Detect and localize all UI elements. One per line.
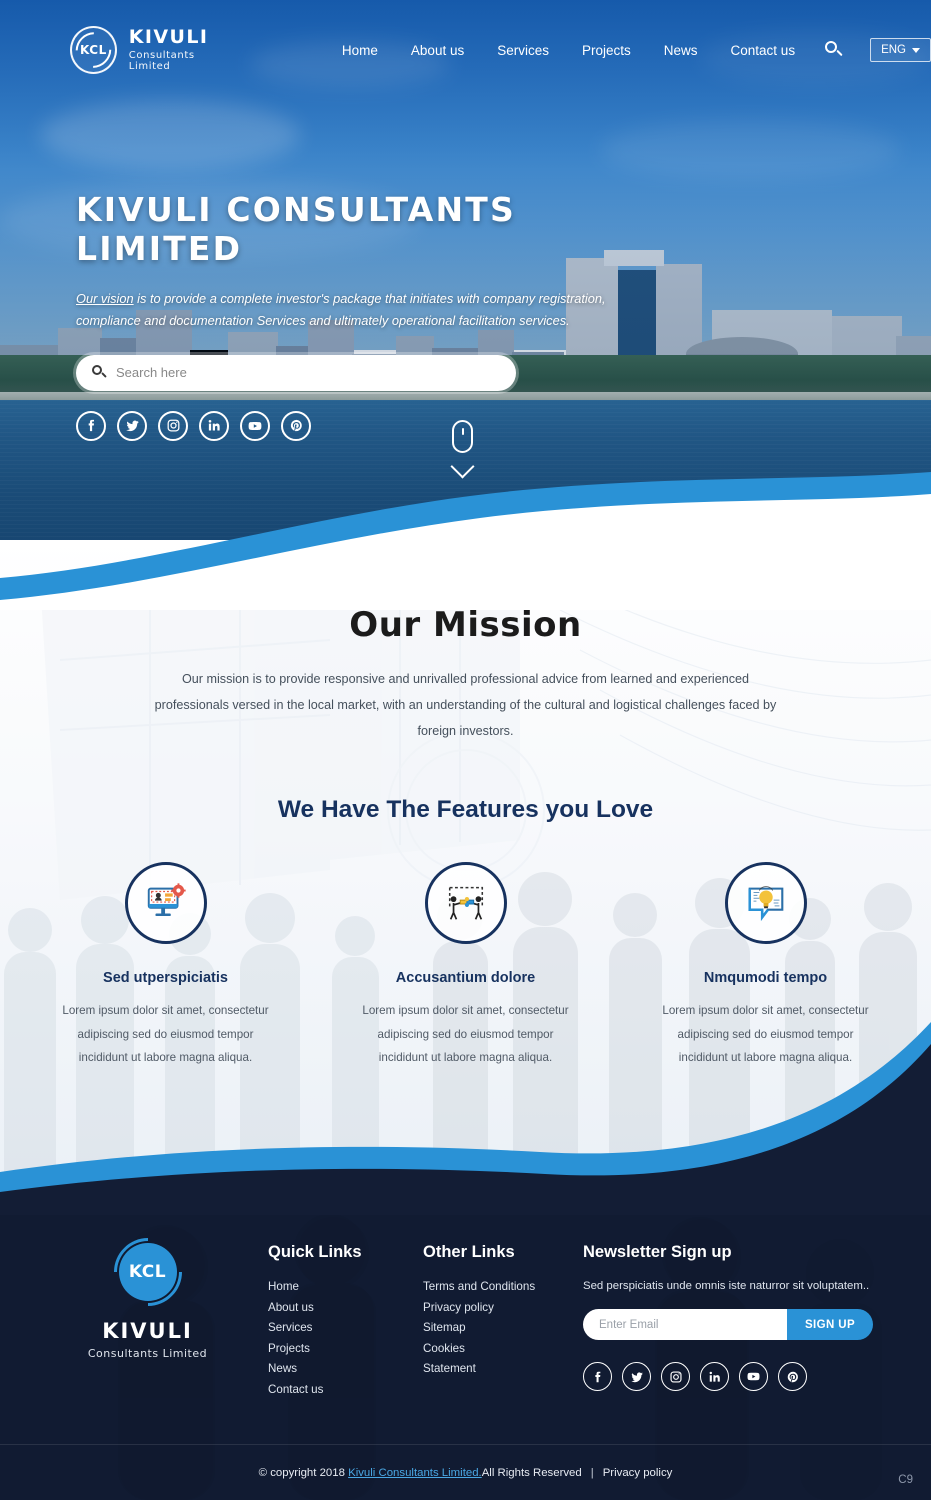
search-input[interactable] <box>116 365 500 380</box>
language-selector[interactable]: ENG <box>870 38 931 62</box>
hero-content: KIVULI CONSULTANTS LIMITED Our vision is… <box>76 190 636 441</box>
linkedin-icon[interactable] <box>700 1362 729 1391</box>
footer-logo-name: KIVULI <box>60 1319 235 1343</box>
newsletter-form: SIGN UP <box>583 1309 873 1340</box>
footer-social-links <box>583 1362 873 1391</box>
footer-columns: KCL KIVULI Consultants Limited Quick Lin… <box>0 1195 931 1403</box>
monitor-settings-icon <box>125 862 207 944</box>
site-footer: KCL KIVULI Consultants Limited Quick Lin… <box>0 1195 931 1500</box>
logo-name: KIVULI <box>129 28 237 48</box>
youtube-icon[interactable] <box>240 411 270 441</box>
footer-link-news[interactable]: News <box>268 1362 418 1375</box>
copyright-suffix: All Rights Reserved <box>482 1467 582 1479</box>
logo-text: KIVULI Consultants Limited <box>129 28 237 72</box>
footer-link-home[interactable]: Home <box>268 1280 418 1293</box>
pinterest-icon[interactable] <box>778 1362 807 1391</box>
copyright-text: © copyright 2018 Kivuli Consultants Limi… <box>259 1467 673 1479</box>
nav-item-news[interactable]: News <box>664 43 698 58</box>
copyright-company-link[interactable]: Kivuli Consultants Limited. <box>348 1467 482 1479</box>
footer-link-privacy[interactable]: Privacy policy <box>423 1301 578 1314</box>
mission-text: Our mission is to provide responsive and… <box>146 667 786 744</box>
footer-other-links: Other Links Terms and Conditions Privacy… <box>423 1243 578 1403</box>
hero-vision-label: Our vision <box>76 291 134 306</box>
copyright-prefix: © copyright 2018 <box>259 1467 348 1479</box>
nav-item-services[interactable]: Services <box>497 43 549 58</box>
privacy-policy-link[interactable]: Privacy policy <box>603 1467 673 1479</box>
twitter-icon[interactable] <box>117 411 147 441</box>
search-icon <box>92 365 107 380</box>
other-links-heading: Other Links <box>423 1243 578 1262</box>
footer-link-about-us[interactable]: About us <box>268 1301 418 1314</box>
hero-social-links <box>76 411 636 441</box>
quick-links-heading: Quick Links <box>268 1243 418 1262</box>
logo-ring <box>68 25 118 75</box>
page-root: KCL KIVULI Consultants Limited Home Abou… <box>0 0 931 1500</box>
footer-link-terms[interactable]: Terms and Conditions <box>423 1280 578 1293</box>
corner-tag: C9 <box>898 1474 913 1486</box>
feature-card-title: Accusantium dolore <box>360 970 572 986</box>
linkedin-icon[interactable] <box>199 411 229 441</box>
youtube-icon[interactable] <box>739 1362 768 1391</box>
hero-vision-rest: is to provide a complete investor's pack… <box>76 291 606 328</box>
footer-link-sitemap[interactable]: Sitemap <box>423 1321 578 1334</box>
instagram-icon[interactable] <box>661 1362 690 1391</box>
logo-mark-icon: KCL <box>70 26 117 74</box>
logo-tagline: Consultants Limited <box>129 50 237 72</box>
feature-card-title: Nmqumodi tempo <box>660 970 872 986</box>
instagram-icon[interactable] <box>158 411 188 441</box>
nav-item-projects[interactable]: Projects <box>582 43 631 58</box>
copyright-separator: | <box>591 1467 594 1479</box>
search-icon[interactable] <box>825 41 843 59</box>
footer-link-services[interactable]: Services <box>268 1321 418 1334</box>
newsletter-text: Sed perspiciatis unde omnis iste naturro… <box>583 1280 873 1292</box>
footer-link-statement[interactable]: Statement <box>423 1362 578 1375</box>
footer-newsletter: Newsletter Sign up Sed perspiciatis unde… <box>583 1243 873 1403</box>
footer-link-cookies[interactable]: Cookies <box>423 1342 578 1355</box>
footer-logo-tagline: Consultants Limited <box>60 1347 235 1360</box>
footer-logo[interactable]: KCL KIVULI Consultants Limited <box>60 1243 235 1403</box>
logo[interactable]: KCL KIVULI Consultants Limited <box>70 26 237 74</box>
footer-link-contact-us[interactable]: Contact us <box>268 1383 418 1396</box>
feature-card-title: Sed utperspiciatis <box>60 970 272 986</box>
nav-item-about-us[interactable]: About us <box>411 43 464 58</box>
nav-item-home[interactable]: Home <box>342 43 378 58</box>
mouse-icon <box>452 420 473 453</box>
chevron-down-icon <box>912 48 920 53</box>
features-heading: We Have The Features you Love <box>0 796 931 824</box>
twitter-icon[interactable] <box>622 1362 651 1391</box>
main-navigation: Home About us Services Projects News Con… <box>342 38 931 62</box>
wave-divider-top <box>0 460 931 610</box>
hero-search-bar[interactable] <box>76 355 516 391</box>
site-header: KCL KIVULI Consultants Limited Home Abou… <box>0 0 931 100</box>
language-label: ENG <box>881 44 906 56</box>
footer-quick-links: Quick Links Home About us Services Proje… <box>268 1243 418 1403</box>
email-input[interactable] <box>583 1309 787 1340</box>
hero-title: KIVULI CONSULTANTS LIMITED <box>76 190 636 268</box>
teamwork-puzzle-icon <box>425 862 507 944</box>
facebook-icon[interactable] <box>583 1362 612 1391</box>
footer-link-projects[interactable]: Projects <box>268 1342 418 1355</box>
pinterest-icon[interactable] <box>281 411 311 441</box>
newsletter-heading: Newsletter Sign up <box>583 1243 873 1262</box>
wave-divider-bottom <box>0 1000 931 1215</box>
signup-button[interactable]: SIGN UP <box>787 1309 873 1340</box>
hero-vision-text: Our vision is to provide a complete inve… <box>76 288 636 333</box>
logo-ring <box>99 1224 195 1320</box>
copyright-bar: © copyright 2018 Kivuli Consultants Limi… <box>0 1444 931 1500</box>
nav-item-contact-us[interactable]: Contact us <box>731 43 796 58</box>
facebook-icon[interactable] <box>76 411 106 441</box>
logo-mark-icon: KCL <box>119 1243 177 1301</box>
mission-title: Our Mission <box>0 605 931 645</box>
lightbulb-idea-icon <box>725 862 807 944</box>
